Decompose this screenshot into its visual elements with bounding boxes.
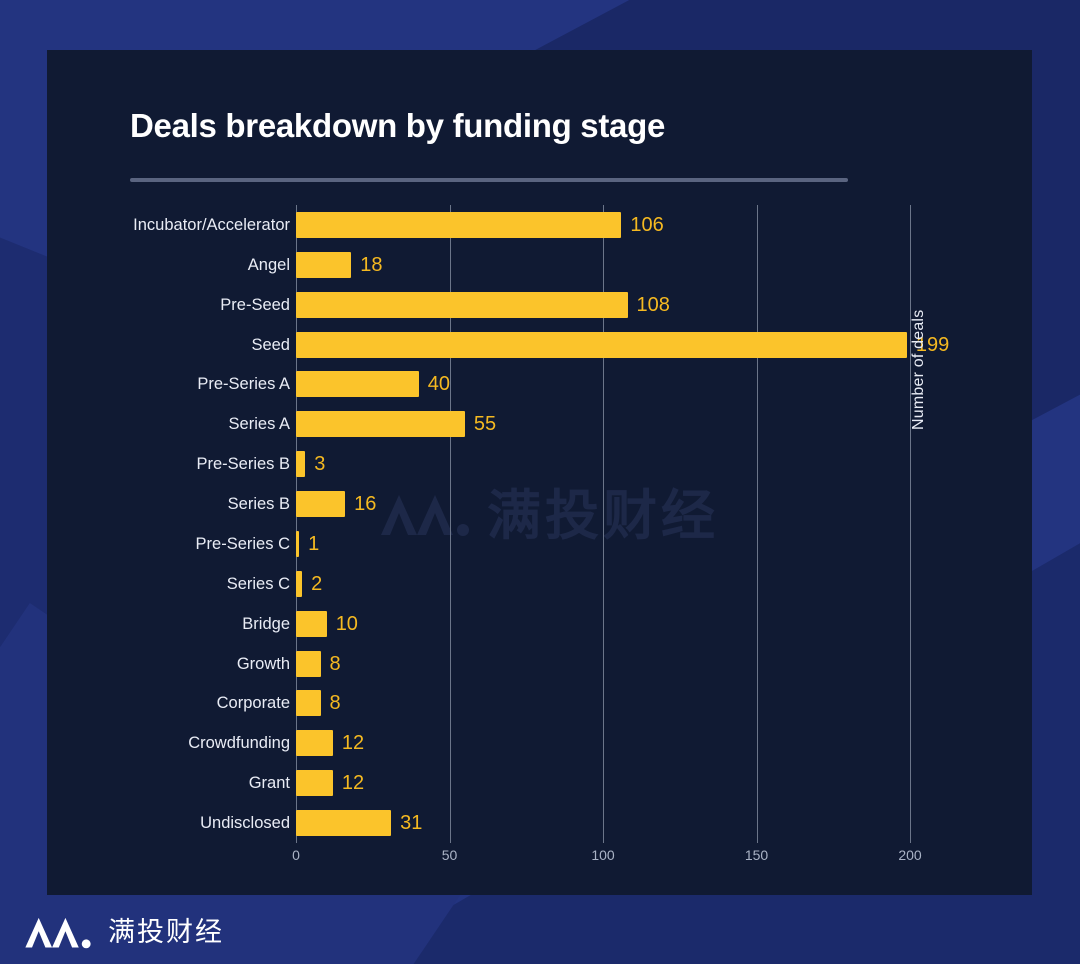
category-label: Pre-Series C (196, 536, 290, 553)
bar-row: Incubator/Accelerator106 (47, 205, 1032, 245)
x-tick-label: 200 (898, 847, 921, 863)
bar-row: Growth8 (47, 644, 1032, 684)
bar-value-label: 40 (428, 374, 450, 394)
bar[interactable] (296, 690, 321, 716)
bar[interactable] (296, 451, 305, 477)
bar-row: Pre-Series A40 (47, 365, 1032, 405)
footer-brand: 满投财经 (22, 906, 224, 952)
bar[interactable] (296, 411, 465, 437)
bar[interactable] (296, 571, 302, 597)
category-label: Bridge (242, 616, 290, 633)
bar-value-label: 8 (330, 654, 341, 674)
bar[interactable] (296, 810, 391, 836)
bar-value-label: 2 (311, 574, 322, 594)
bar[interactable] (296, 252, 351, 278)
bar-row: Crowdfunding12 (47, 723, 1032, 763)
bar-value-label: 12 (342, 733, 364, 753)
bar-value-label: 8 (330, 693, 341, 713)
bar-value-label: 31 (400, 813, 422, 833)
bar-row: Grant12 (47, 763, 1032, 803)
bar-row: Corporate8 (47, 684, 1032, 724)
bar-value-label: 1 (308, 534, 319, 554)
category-label: Series B (228, 496, 290, 513)
x-tick-label: 0 (292, 847, 300, 863)
bar-value-label: 3 (314, 454, 325, 474)
x-tick-label: 50 (442, 847, 458, 863)
x-axis-ticks: 050100150200 (47, 847, 1032, 877)
bar-row: Seed199 (47, 325, 1032, 365)
category-label: Undisclosed (200, 815, 290, 832)
plot-area: Incubator/Accelerator106Angel18Pre-Seed1… (47, 50, 1032, 895)
category-label: Corporate (217, 695, 290, 712)
x-tick-label: 100 (591, 847, 614, 863)
bar-value-label: 106 (630, 215, 663, 235)
bar[interactable] (296, 371, 419, 397)
chart-card: Deals breakdown by funding stage 满投财经 In… (47, 50, 1032, 895)
bar[interactable] (296, 491, 345, 517)
bar-row: Undisclosed31 (47, 803, 1032, 843)
category-label: Series A (229, 416, 290, 433)
category-label: Incubator/Accelerator (133, 217, 290, 234)
category-label: Series C (227, 576, 290, 593)
category-label: Angel (248, 257, 290, 274)
bar-rows: Incubator/Accelerator106Angel18Pre-Seed1… (47, 205, 1032, 843)
bar-value-label: 55 (474, 414, 496, 434)
bar[interactable] (296, 292, 628, 318)
bar-row: Series C2 (47, 564, 1032, 604)
category-label: Pre-Series B (196, 456, 290, 473)
bar[interactable] (296, 611, 327, 637)
bar-row: Angel18 (47, 245, 1032, 285)
category-label: Pre-Seed (220, 297, 290, 314)
bar-value-label: 16 (354, 494, 376, 514)
category-label: Crowdfunding (188, 735, 290, 752)
bar[interactable] (296, 651, 321, 677)
bar[interactable] (296, 770, 333, 796)
bar[interactable] (296, 212, 621, 238)
category-label: Grant (249, 775, 290, 792)
category-label: Seed (251, 337, 290, 354)
y-axis-title: Number of deals (910, 310, 928, 430)
bar-row: Pre-Seed108 (47, 285, 1032, 325)
bar-row: Series A55 (47, 404, 1032, 444)
bar-value-label: 108 (637, 295, 670, 315)
bar-row: Bridge10 (47, 604, 1032, 644)
bar-value-label: 10 (336, 614, 358, 634)
category-label: Growth (237, 656, 290, 673)
x-tick-label: 150 (745, 847, 768, 863)
brand-name: 满投财经 (108, 910, 224, 949)
bar[interactable] (296, 730, 333, 756)
bar-row: Series B16 (47, 484, 1032, 524)
bar-value-label: 18 (360, 255, 382, 275)
category-label: Pre-Series A (197, 376, 290, 393)
bar-row: Pre-Series B3 (47, 444, 1032, 484)
bar-row: Pre-Series C1 (47, 524, 1032, 564)
bar-value-label: 12 (342, 773, 364, 793)
bar[interactable] (296, 332, 907, 358)
bar[interactable] (296, 531, 299, 557)
brand-logo-icon (22, 906, 94, 952)
